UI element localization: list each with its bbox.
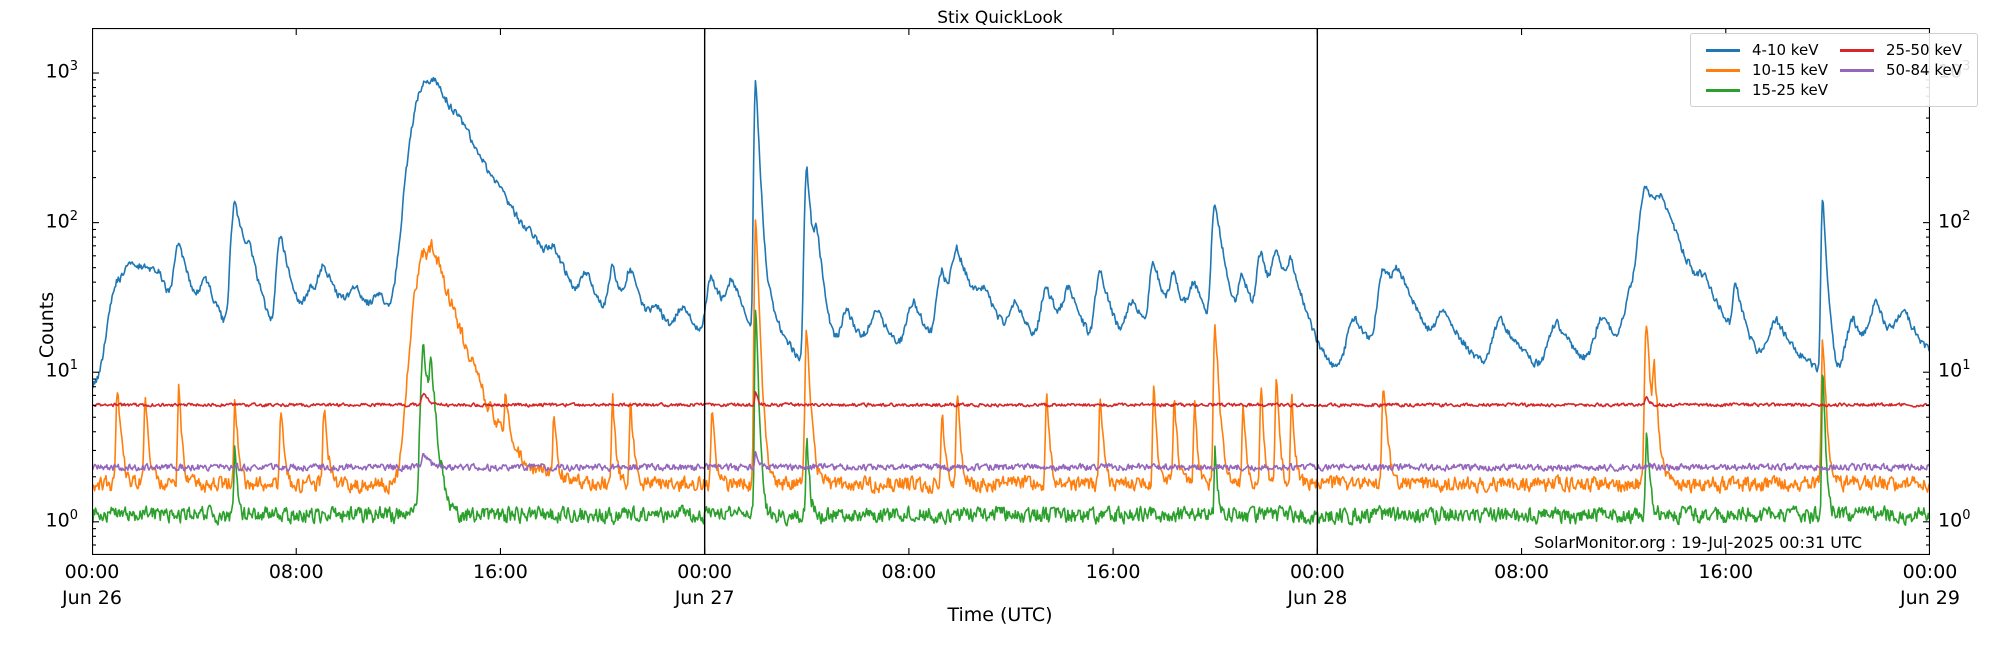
x-tick-label: 16:00	[1053, 561, 1173, 583]
x-tick-label: 00:00	[1870, 561, 1990, 583]
legend-swatch	[1700, 40, 1746, 60]
x-tick-label: 00:00	[645, 561, 765, 583]
legend-label: 4-10 keV	[1746, 40, 1834, 60]
legend-swatch-empty	[1834, 80, 1880, 100]
x-tick-label: 08:00	[236, 561, 356, 583]
legend-swatch	[1700, 60, 1746, 80]
legend-label: 50-84 keV	[1880, 60, 1968, 80]
y-tick-label-left: 103	[18, 59, 78, 82]
x-tick-label: 00:00	[32, 561, 152, 583]
legend-row: 10-15 keV50-84 keV	[1700, 60, 1968, 80]
chart-title: Stix QuickLook	[0, 8, 2000, 28]
source-annotation: SolarMonitor.org : 19-Jul-2025 00:31 UTC	[1534, 533, 1862, 552]
x-tick-label: 08:00	[849, 561, 969, 583]
x-date-label: Jun 27	[645, 587, 765, 609]
y-tick-label-right: 100	[1938, 508, 1970, 531]
y-tick-label-left: 100	[18, 508, 78, 531]
legend-color-swatch	[1706, 89, 1740, 92]
y-tick-label-left: 101	[18, 358, 78, 381]
x-date-label: Jun 28	[1257, 587, 1377, 609]
x-tick-label: 08:00	[1462, 561, 1582, 583]
x-tick-label: 16:00	[440, 561, 560, 583]
y-axis-label: Counts	[36, 292, 58, 358]
legend-color-swatch	[1706, 69, 1740, 72]
legend-row: 15-25 keV	[1700, 80, 1968, 100]
legend-row: 4-10 keV25-50 keV	[1700, 40, 1968, 60]
stix-quicklook-figure: Stix QuickLook Counts Time (UTC) 1001001…	[0, 0, 2000, 650]
legend-color-swatch	[1706, 49, 1740, 52]
legend-label-empty	[1880, 80, 1968, 100]
x-date-label: Jun 29	[1870, 587, 1990, 609]
legend-label: 10-15 keV	[1746, 60, 1834, 80]
y-tick-label-right: 101	[1938, 358, 1970, 381]
x-tick-label: 00:00	[1257, 561, 1377, 583]
chart-legend: 4-10 keV25-50 keV10-15 keV50-84 keV15-25…	[1690, 33, 1978, 107]
y-tick-label-right: 102	[1938, 209, 1970, 232]
legend-color-swatch	[1840, 49, 1874, 52]
legend-table: 4-10 keV25-50 keV10-15 keV50-84 keV15-25…	[1700, 40, 1968, 100]
x-tick-label: 16:00	[1666, 561, 1786, 583]
legend-label: 15-25 keV	[1746, 80, 1834, 100]
legend-swatch	[1834, 60, 1880, 80]
x-axis-label: Time (UTC)	[0, 604, 2000, 626]
x-date-label: Jun 26	[32, 587, 152, 609]
legend-swatch	[1834, 40, 1880, 60]
plot-area	[92, 28, 1930, 555]
chart-canvas	[92, 28, 1930, 555]
legend-label: 25-50 keV	[1880, 40, 1968, 60]
y-tick-label-left: 102	[18, 209, 78, 232]
legend-color-swatch	[1840, 69, 1874, 72]
legend-swatch	[1700, 80, 1746, 100]
